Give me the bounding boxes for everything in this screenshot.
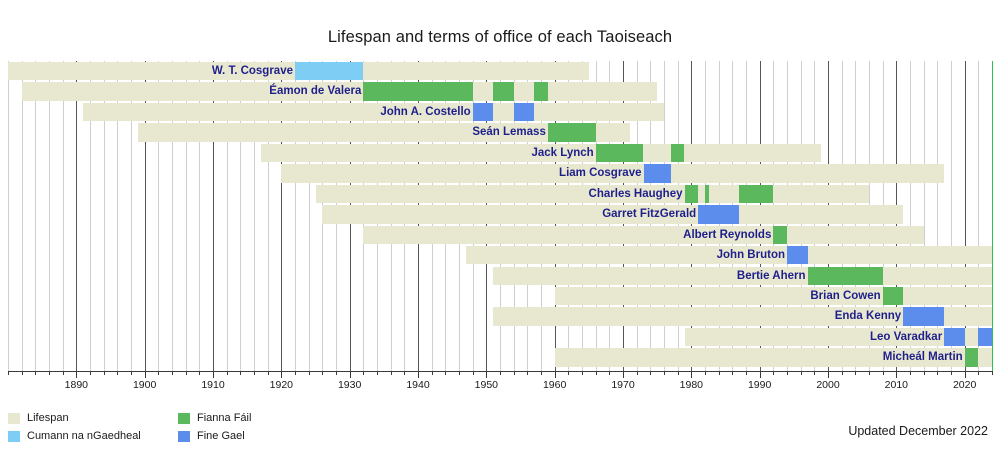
gantt-row[interactable]: Micheál Martin — [0, 347, 1000, 367]
axis-tick — [732, 371, 733, 375]
axis-tick — [978, 371, 979, 375]
gantt-row[interactable]: Éamon de Valera — [0, 81, 1000, 101]
axis-tick-label: 1890 — [53, 379, 99, 391]
term-bar — [903, 307, 944, 325]
axis-tick-major — [281, 371, 282, 378]
gantt-row[interactable]: Jack Lynch — [0, 143, 1000, 163]
gantt-row[interactable]: Bertie Ahern — [0, 266, 1000, 286]
legend-item: Lifespan — [8, 412, 69, 424]
axis-tick-label: 1900 — [122, 379, 168, 391]
person-label: Éamon de Valera — [269, 83, 361, 101]
axis-tick — [445, 371, 446, 375]
legend-label: Cumann na nGaedheal — [27, 430, 141, 442]
axis-tick-label: 1950 — [463, 379, 509, 391]
legend-swatch — [8, 431, 20, 442]
axis-tick — [459, 371, 460, 375]
axis-tick — [90, 371, 91, 375]
gantt-plot-area: W. T. CosgraveÉamon de ValeraJohn A. Cos… — [0, 61, 1000, 371]
axis-tick — [937, 371, 938, 375]
gantt-row[interactable]: Garret FitzGerald — [0, 204, 1000, 224]
legend-item: Fianna Fáil — [178, 412, 251, 424]
axis-tick — [35, 371, 36, 375]
axis-tick — [104, 371, 105, 375]
axis-tick — [432, 371, 433, 375]
axis-tick — [254, 371, 255, 375]
term-bar — [705, 205, 739, 223]
axis-tick — [664, 371, 665, 375]
axis-tick-label: 1930 — [327, 379, 373, 391]
legend-swatch — [8, 413, 20, 424]
axis-tick — [910, 371, 911, 375]
axis-tick — [473, 371, 474, 375]
term-bar — [363, 82, 472, 100]
term-bar — [698, 205, 705, 223]
axis-tick — [746, 371, 747, 375]
axis-tick-major — [145, 371, 146, 378]
term-bar — [773, 226, 787, 244]
axis-tick — [787, 371, 788, 375]
person-label: Liam Cosgrave — [559, 165, 641, 183]
axis-tick — [924, 371, 925, 375]
person-label: Enda Kenny — [835, 308, 901, 326]
axis-tick-label: 2000 — [805, 379, 851, 391]
axis-tick-major — [965, 371, 966, 378]
axis-tick — [172, 371, 173, 375]
gantt-row[interactable]: John A. Costello — [0, 102, 1000, 122]
axis-tick — [49, 371, 50, 375]
axis-tick — [773, 371, 774, 375]
term-bar — [473, 103, 494, 121]
axis-tick-label: 1990 — [737, 379, 783, 391]
term-bar — [705, 185, 709, 203]
person-label: Charles Haughey — [589, 186, 683, 204]
legend-swatch — [178, 431, 190, 442]
axis-tick-label: 1960 — [532, 379, 578, 391]
term-bar — [295, 62, 363, 80]
axis-tick-label: 2020 — [942, 379, 988, 391]
axis-tick — [855, 371, 856, 375]
x-axis: 1890190019101920193019401950196019701980… — [0, 371, 1000, 401]
term-bar — [644, 164, 671, 182]
axis-tick — [719, 371, 720, 375]
axis-tick — [609, 371, 610, 375]
gantt-row[interactable]: Charles Haughey — [0, 184, 1000, 204]
axis-tick — [869, 371, 870, 375]
person-label: Micheál Martin — [883, 349, 963, 367]
axis-tick — [131, 371, 132, 375]
axis-tick-major — [486, 371, 487, 378]
axis-tick — [582, 371, 583, 375]
axis-tick — [158, 371, 159, 375]
gantt-row[interactable]: Liam Cosgrave — [0, 163, 1000, 183]
term-bar — [596, 144, 644, 162]
gantt-row[interactable]: Seán Lemass — [0, 122, 1000, 142]
axis-tick — [227, 371, 228, 375]
person-label: Garret FitzGerald — [602, 206, 696, 224]
axis-tick — [541, 371, 542, 375]
term-bar — [671, 144, 685, 162]
axis-tick-major — [213, 371, 214, 378]
axis-tick — [650, 371, 651, 375]
axis-tick-major — [760, 371, 761, 378]
axis-tick-label: 2010 — [873, 379, 919, 391]
axis-tick — [705, 371, 706, 375]
axis-tick — [240, 371, 241, 375]
person-label: Albert Reynolds — [683, 227, 771, 245]
axis-tick-label: 1970 — [600, 379, 646, 391]
axis-tick — [568, 371, 569, 375]
axis-tick — [63, 371, 64, 375]
axis-tick — [363, 371, 364, 375]
axis-tick — [22, 371, 23, 375]
axis-tick — [527, 371, 528, 375]
axis-tick-label: 1980 — [668, 379, 714, 391]
axis-tick — [377, 371, 378, 375]
page-title: Lifespan and terms of office of each Tao… — [0, 28, 1000, 47]
axis-tick — [637, 371, 638, 375]
updated-label: Updated December 2022 — [848, 424, 988, 438]
term-bar — [534, 82, 548, 100]
axis-tick-major — [828, 371, 829, 378]
gantt-row[interactable]: W. T. Cosgrave — [0, 61, 1000, 81]
axis-tick-major — [76, 371, 77, 378]
lifespan-bar — [555, 287, 992, 305]
axis-tick — [322, 371, 323, 375]
person-label: John Bruton — [717, 247, 785, 265]
axis-tick — [336, 371, 337, 375]
axis-tick — [814, 371, 815, 375]
legend: LifespanCumann na nGaedhealFianna FáilFi… — [8, 412, 428, 446]
axis-tick-major — [623, 371, 624, 378]
legend-swatch — [178, 413, 190, 424]
axis-tick — [842, 371, 843, 375]
person-label: Jack Lynch — [531, 145, 593, 163]
person-label: W. T. Cosgrave — [212, 63, 293, 81]
term-bar — [514, 103, 535, 121]
axis-tick — [186, 371, 187, 375]
term-bar — [787, 246, 808, 264]
axis-tick — [391, 371, 392, 375]
axis-tick — [951, 371, 952, 375]
axis-tick — [596, 371, 597, 375]
gantt-row[interactable]: John Bruton — [0, 245, 1000, 265]
lifespan-bar — [363, 226, 923, 244]
term-bar — [548, 123, 596, 141]
gantt-rows: W. T. CosgraveÉamon de ValeraJohn A. Cos… — [0, 61, 1000, 371]
axis-tick — [992, 371, 993, 375]
term-bar — [739, 185, 773, 203]
legend-label: Fine Gael — [197, 430, 245, 442]
gantt-row[interactable]: Enda Kenny — [0, 306, 1000, 326]
gantt-row[interactable]: Brian Cowen — [0, 286, 1000, 306]
person-label: John A. Costello — [380, 104, 470, 122]
person-label: Leo Varadkar — [870, 329, 942, 347]
axis-tick — [514, 371, 515, 375]
axis-tick-major — [418, 371, 419, 378]
term-bar — [965, 348, 979, 366]
term-bar — [883, 287, 904, 305]
legend-label: Fianna Fáil — [197, 412, 251, 424]
term-bar — [808, 267, 883, 285]
axis-tick-major — [555, 371, 556, 378]
term-bar — [944, 328, 965, 346]
legend-item: Fine Gael — [178, 430, 245, 442]
axis-tick — [678, 371, 679, 375]
axis-tick — [268, 371, 269, 375]
term-bar — [978, 328, 992, 346]
axis-tick — [500, 371, 501, 375]
legend-label: Lifespan — [27, 412, 69, 424]
axis-tick-label: 1910 — [190, 379, 236, 391]
gantt-row[interactable]: Albert Reynolds — [0, 225, 1000, 245]
term-bar — [685, 185, 699, 203]
lifespan-bar — [83, 103, 664, 121]
axis-tick — [309, 371, 310, 375]
axis-tick — [883, 371, 884, 375]
person-label: Brian Cowen — [810, 288, 880, 306]
axis-tick-label: 1940 — [395, 379, 441, 391]
axis-tick-major — [896, 371, 897, 378]
axis-tick-major — [350, 371, 351, 378]
legend-item: Cumann na nGaedheal — [8, 430, 141, 442]
person-label: Seán Lemass — [472, 124, 546, 142]
gantt-row[interactable]: Leo Varadkar — [0, 327, 1000, 347]
axis-tick — [295, 371, 296, 375]
term-bar — [493, 82, 514, 100]
axis-tick-label: 1920 — [258, 379, 304, 391]
axis-tick — [801, 371, 802, 375]
axis-tick — [404, 371, 405, 375]
current-date-line — [992, 61, 993, 371]
axis-tick-major — [691, 371, 692, 378]
axis-tick — [117, 371, 118, 375]
axis-tick — [199, 371, 200, 375]
person-label: Bertie Ahern — [737, 268, 806, 286]
axis-tick — [8, 371, 9, 375]
